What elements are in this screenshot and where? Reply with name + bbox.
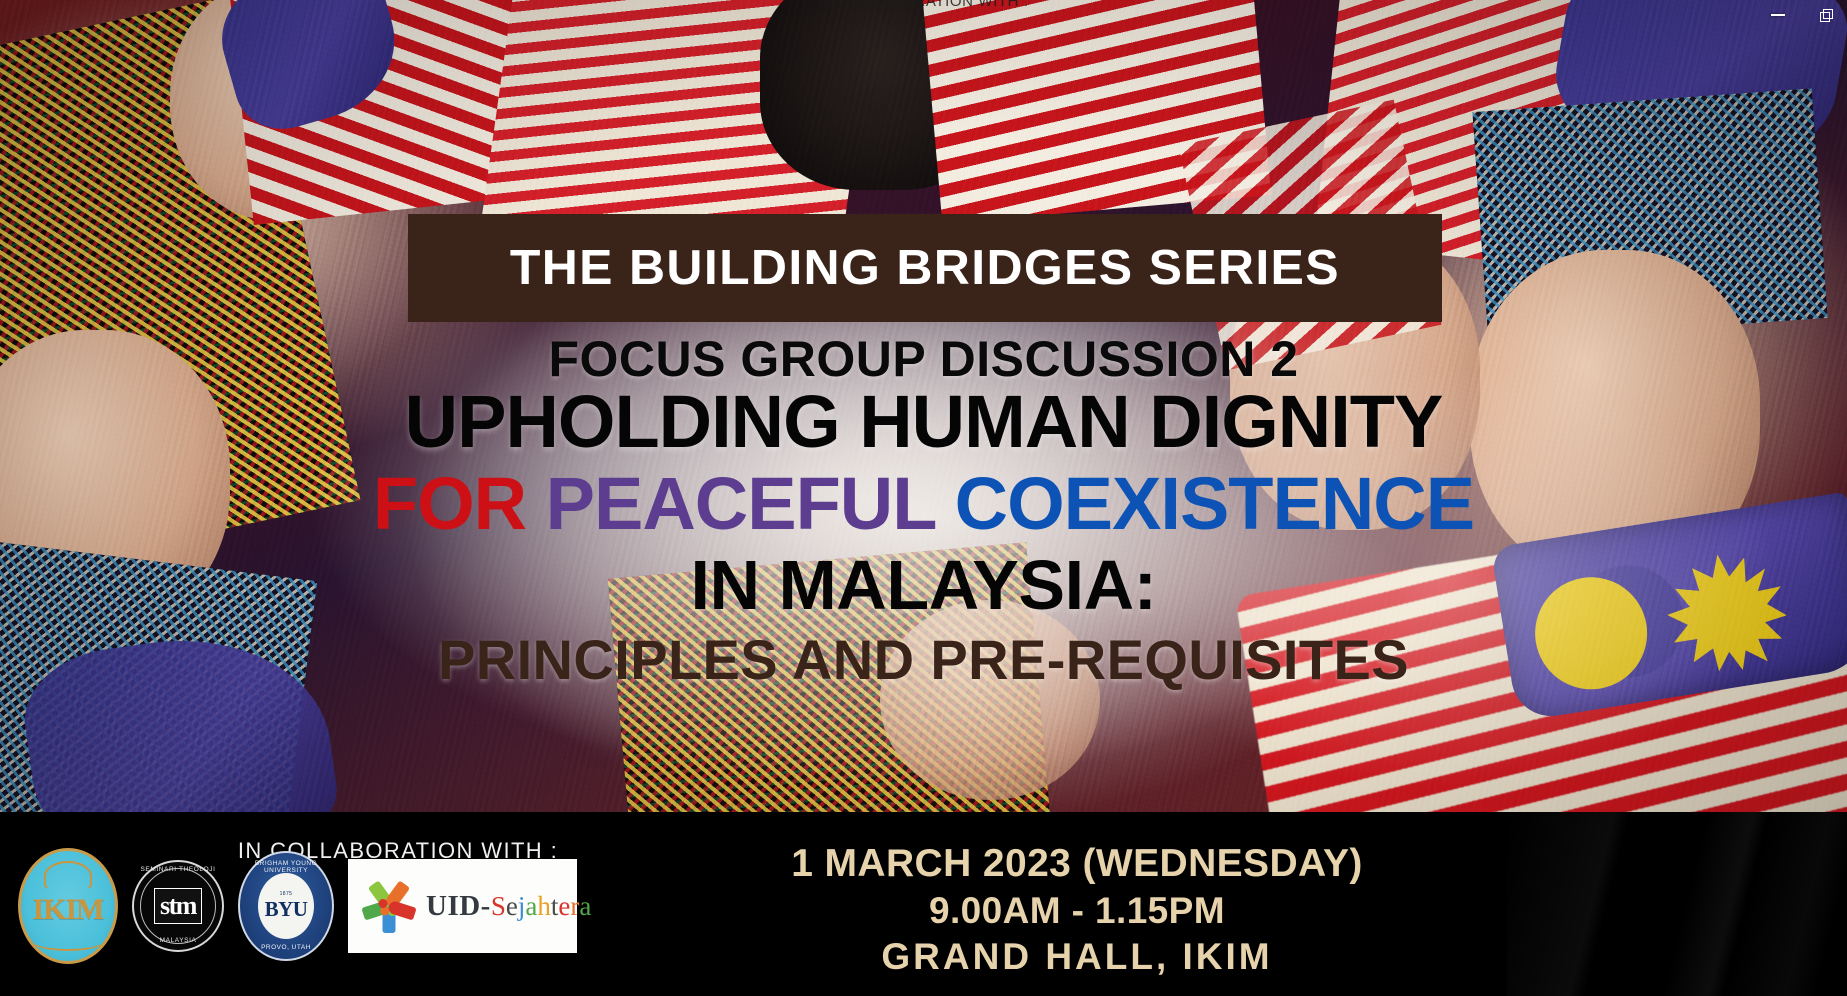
- stm-rim-bottom-text: MALAYSIA: [134, 937, 222, 944]
- partner-logos: IKIM SEMINARI THEOLOJI stm MALAYSIA BRIG…: [0, 848, 638, 964]
- title-word-coexistence: COEXISTENCE: [955, 462, 1474, 545]
- ikim-logo: IKIM: [18, 848, 118, 964]
- title-word-for: FOR: [373, 462, 526, 545]
- stm-rim-top-text: SEMINARI THEOLOJI: [134, 866, 222, 873]
- ikim-crown-icon: [44, 861, 92, 891]
- restore-icon: [1820, 9, 1833, 22]
- window-controls: [1767, 4, 1837, 26]
- ikim-arc-icon: [29, 927, 107, 951]
- uid-secondary-text: Sejahtera: [491, 893, 592, 920]
- series-banner: THE BUILDING BRIDGES SERIES: [408, 214, 1442, 322]
- event-date: 1 MARCH 2023 (WEDNESDAY): [727, 840, 1427, 888]
- ikim-logo-text: IKIM: [33, 893, 104, 927]
- title-line-1: UPHOLDING HUMAN DIGNITY: [0, 385, 1847, 459]
- byu-rim-top-text: BRIGHAM YOUNG UNIVERSITY: [240, 860, 332, 874]
- byu-logo: BRIGHAM YOUNG UNIVERSITY 1875 BYU PROVO,…: [238, 851, 334, 961]
- byu-logo-text: BYU: [265, 897, 308, 922]
- restore-button[interactable]: [1815, 4, 1837, 26]
- title-line-3: IN MALAYSIA:: [0, 550, 1847, 620]
- event-venue: GRAND HALL, IKIM: [727, 933, 1427, 981]
- uid-sejahtera-logo: UID- Sejahtera: [348, 859, 577, 953]
- uid-wordmark: UID- Sejahtera: [426, 892, 591, 921]
- uid-pinwheel-icon: [358, 875, 420, 937]
- event-time: 9.00AM - 1.15PM: [727, 888, 1427, 933]
- minimize-icon: [1771, 14, 1785, 16]
- stm-ring-icon: [140, 868, 216, 944]
- title-line-2: FOR PEACEFUL COEXISTENCE: [0, 467, 1847, 541]
- byu-rim-bottom-text: PROVO, UTAH: [240, 944, 332, 951]
- footer-sheen: [1507, 812, 1847, 996]
- stm-logo: SEMINARI THEOLOJI stm MALAYSIA: [132, 860, 224, 952]
- event-details: 1 MARCH 2023 (WEDNESDAY) 9.00AM - 1.15PM…: [727, 840, 1427, 981]
- poster-footer: IN COLLABORATION WITH : IKIM SEMINARI TH…: [0, 812, 1847, 996]
- uid-primary-text: UID-: [426, 892, 491, 921]
- series-banner-text: THE BUILDING BRIDGES SERIES: [510, 240, 1340, 296]
- title-line-4: PRINCIPLES AND PRE-REQUISITES: [0, 632, 1847, 688]
- poster-window: IN COLLABORATION WITH : THE BUILDING BRI…: [0, 0, 1847, 996]
- title-word-peaceful: PEACEFUL: [546, 462, 935, 545]
- byu-logo-inner: 1875 BYU: [258, 873, 314, 939]
- minimize-button[interactable]: [1767, 4, 1789, 26]
